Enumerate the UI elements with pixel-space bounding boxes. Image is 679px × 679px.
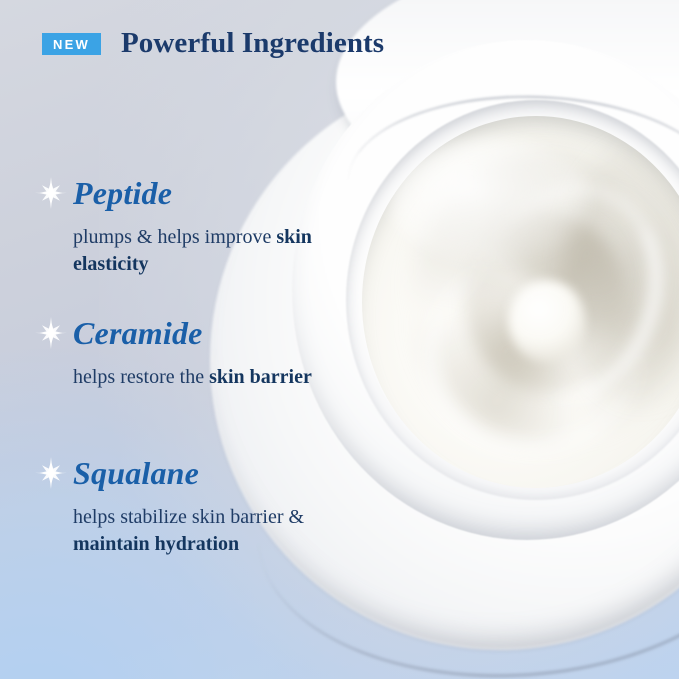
description-emphasis: maintain hydration (73, 533, 239, 555)
sparkle-icon (34, 316, 68, 350)
ingredient-name: Peptide (73, 177, 172, 209)
ingredient-description: helps restore the skin barrier (73, 364, 323, 391)
new-badge: NEW (42, 33, 101, 55)
description-plain: plumps & helps improve (73, 226, 276, 248)
description-plain: helps restore the (73, 366, 209, 388)
content-overlay: NEW Powerful Ingredients Peptide plumps … (0, 0, 679, 679)
ingredient-description: plumps & helps improve skin elasticity (73, 224, 323, 278)
header: NEW Powerful Ingredients (42, 27, 384, 60)
description-emphasis: skin barrier (209, 366, 312, 388)
ingredient-heading: Ceramide (34, 310, 324, 356)
description-plain: helps stabilize skin barrier & (73, 506, 304, 528)
ingredient-heading: Peptide (34, 170, 324, 216)
ingredient-item-ceramide: Ceramide helps restore the skin barrier (34, 310, 324, 391)
ingredient-description: helps stabilize skin barrier & maintain … (73, 504, 323, 558)
sparkle-icon (34, 176, 68, 210)
ingredient-name: Ceramide (73, 317, 203, 349)
ingredient-heading: Squalane (34, 450, 324, 496)
ingredient-name: Squalane (73, 457, 199, 489)
ingredient-item-squalane: Squalane helps stabilize skin barrier & … (34, 450, 324, 558)
sparkle-icon (34, 456, 68, 490)
promo-image: NEW Powerful Ingredients Peptide plumps … (0, 0, 679, 679)
ingredient-item-peptide: Peptide plumps & helps improve skin elas… (34, 170, 324, 278)
page-title: Powerful Ingredients (121, 27, 384, 60)
